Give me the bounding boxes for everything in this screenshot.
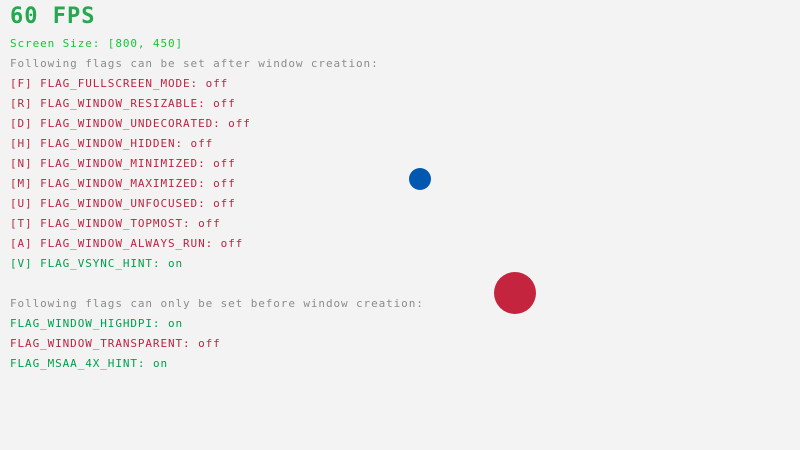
- flag-name: FLAG_WINDOW_ALWAYS_RUN:: [40, 237, 221, 250]
- flag-shortcut-key: [R]: [10, 97, 40, 110]
- runtime-flags-header: Following flags can be set after window …: [10, 58, 379, 70]
- flag-shortcut-key: [V]: [10, 257, 40, 270]
- runtime-flag-flag-window-always-run[interactable]: [A] FLAG_WINDOW_ALWAYS_RUN: off: [10, 238, 243, 250]
- runtime-flag-flag-window-maximized[interactable]: [M] FLAG_WINDOW_MAXIMIZED: off: [10, 178, 236, 190]
- runtime-flag-flag-window-resizable[interactable]: [R] FLAG_WINDOW_RESIZABLE: off: [10, 98, 236, 110]
- flag-name: FLAG_WINDOW_UNDECORATED:: [40, 117, 228, 130]
- flag-value: on: [168, 257, 183, 270]
- precreation-flags-header: Following flags can only be set before w…: [10, 298, 424, 310]
- flag-name: FLAG_WINDOW_TOPMOST:: [40, 217, 198, 230]
- flag-name: FLAG_WINDOW_MINIMIZED:: [40, 157, 213, 170]
- flag-name: FLAG_WINDOW_HIDDEN:: [40, 137, 190, 150]
- ball-small: [409, 168, 431, 190]
- flag-value: off: [191, 137, 214, 150]
- flag-value: off: [206, 77, 229, 90]
- flag-value: off: [213, 157, 236, 170]
- flag-name: FLAG_WINDOW_UNFOCUSED:: [40, 197, 213, 210]
- flag-value: off: [228, 117, 251, 130]
- flag-shortcut-key: [N]: [10, 157, 40, 170]
- flag-name: FLAG_WINDOW_RESIZABLE:: [40, 97, 213, 110]
- precreation-flag-flag-window-highdpi: FLAG_WINDOW_HIGHDPI: on: [10, 318, 183, 330]
- flag-shortcut-key: [A]: [10, 237, 40, 250]
- flag-value: on: [153, 357, 168, 370]
- screen-size-label: Screen Size: [800, 450]: [10, 38, 183, 50]
- flag-name: FLAG_WINDOW_MAXIMIZED:: [40, 177, 213, 190]
- flag-shortcut-key: [F]: [10, 77, 40, 90]
- flag-value: off: [198, 337, 221, 350]
- flag-value: off: [213, 177, 236, 190]
- flag-value: on: [168, 317, 183, 330]
- runtime-flag-flag-vsync-hint[interactable]: [V] FLAG_VSYNC_HINT: on: [10, 258, 183, 270]
- precreation-flag-flag-msaa-4x-hint: FLAG_MSAA_4X_HINT: on: [10, 358, 168, 370]
- flag-shortcut-key: [D]: [10, 117, 40, 130]
- ball-large: [494, 272, 536, 314]
- flag-value: off: [213, 197, 236, 210]
- flag-name: FLAG_FULLSCREEN_MODE:: [40, 77, 206, 90]
- flag-name: FLAG_WINDOW_HIGHDPI:: [10, 317, 168, 330]
- runtime-flag-flag-window-topmost[interactable]: [T] FLAG_WINDOW_TOPMOST: off: [10, 218, 221, 230]
- flag-shortcut-key: [T]: [10, 217, 40, 230]
- flag-shortcut-key: [H]: [10, 137, 40, 150]
- flag-value: off: [198, 217, 221, 230]
- runtime-flag-flag-window-undecorated[interactable]: [D] FLAG_WINDOW_UNDECORATED: off: [10, 118, 251, 130]
- fps-counter: 60 FPS: [10, 5, 95, 29]
- flag-name: FLAG_VSYNC_HINT:: [40, 257, 168, 270]
- flag-value: off: [221, 237, 244, 250]
- runtime-flag-flag-window-minimized[interactable]: [N] FLAG_WINDOW_MINIMIZED: off: [10, 158, 236, 170]
- app-window: 60 FPS Screen Size: [800, 450] Following…: [0, 0, 800, 450]
- flag-name: FLAG_MSAA_4X_HINT:: [10, 357, 153, 370]
- flag-value: off: [213, 97, 236, 110]
- flag-name: FLAG_WINDOW_TRANSPARENT:: [10, 337, 198, 350]
- runtime-flag-flag-window-unfocused[interactable]: [U] FLAG_WINDOW_UNFOCUSED: off: [10, 198, 236, 210]
- flag-shortcut-key: [M]: [10, 177, 40, 190]
- runtime-flag-flag-fullscreen-mode[interactable]: [F] FLAG_FULLSCREEN_MODE: off: [10, 78, 228, 90]
- flag-shortcut-key: [U]: [10, 197, 40, 210]
- precreation-flag-flag-window-transparent: FLAG_WINDOW_TRANSPARENT: off: [10, 338, 221, 350]
- runtime-flag-flag-window-hidden[interactable]: [H] FLAG_WINDOW_HIDDEN: off: [10, 138, 213, 150]
